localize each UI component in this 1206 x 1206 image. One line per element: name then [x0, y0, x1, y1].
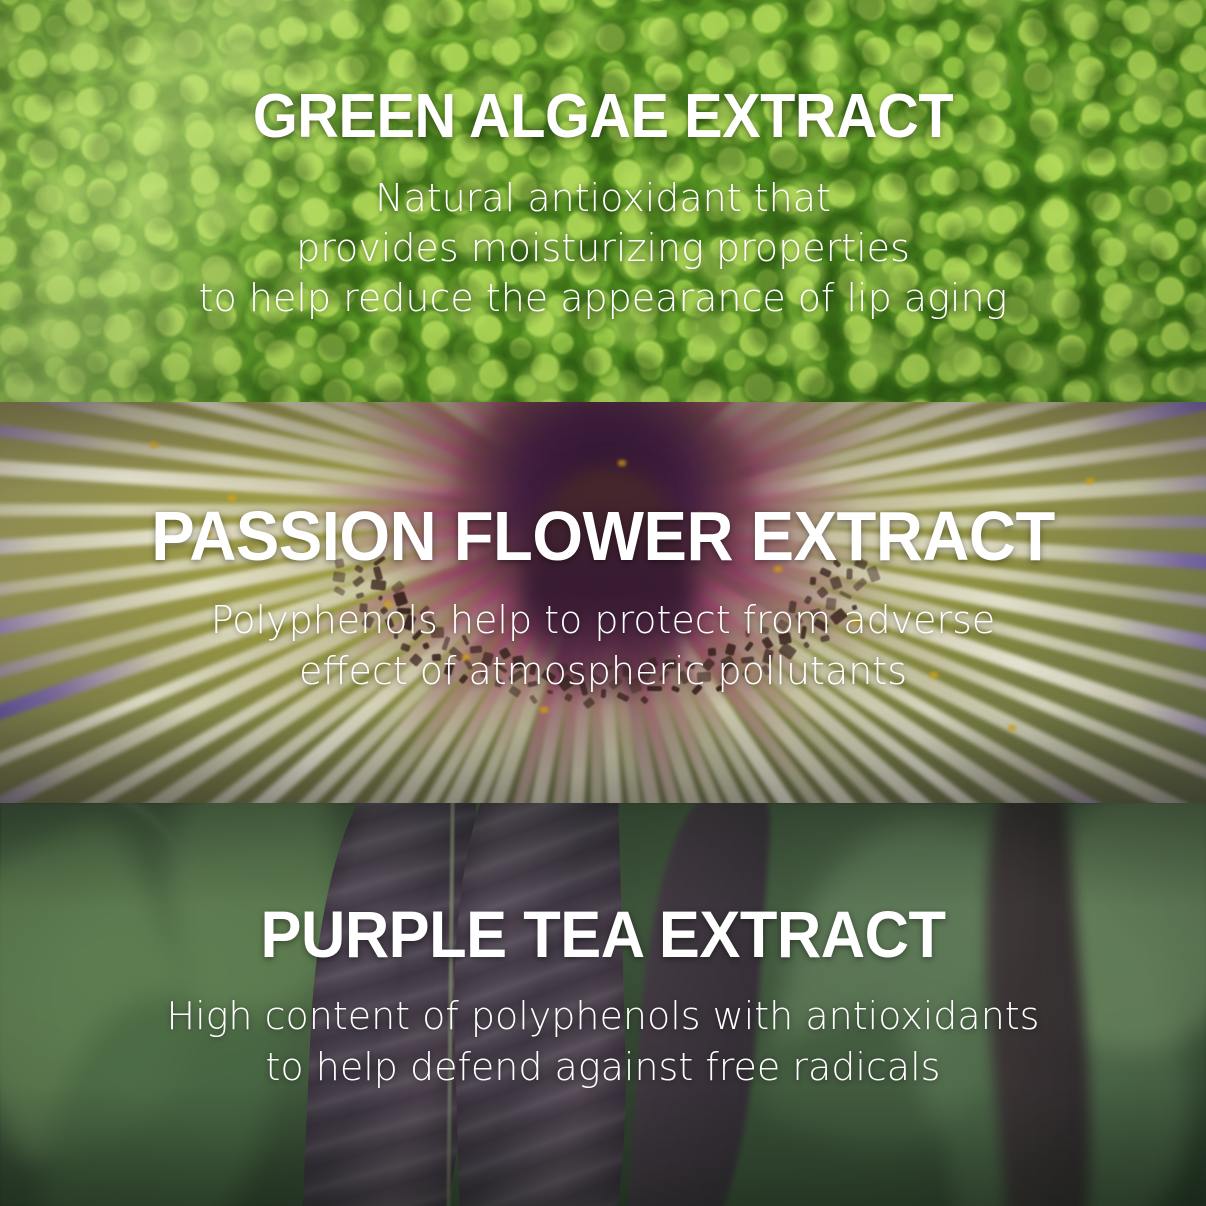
- green-algae-description-line-1: Natural antioxidant that: [0, 174, 1206, 224]
- green-algae-description: Natural antioxidant that provides moistu…: [0, 174, 1206, 323]
- green-algae-heading: GREEN ALGAE EXTRACT: [42, 86, 1164, 148]
- passion-flower-copy-block: PASSION FLOWER EXTRACT Polyphenols help …: [0, 501, 1206, 697]
- green-algae-copy-block: GREEN ALGAE EXTRACT Natural antioxidant …: [0, 86, 1206, 323]
- panel-green-algae: GREEN ALGAE EXTRACT Natural antioxidant …: [0, 0, 1206, 402]
- panel-purple-tea: PURPLE TEA EXTRACT High content of polyp…: [0, 803, 1206, 1206]
- passion-flower-description: Polyphenols help to protect from adverse…: [0, 595, 1206, 697]
- purple-tea-description-line-1: High content of polyphenols with antioxi…: [0, 991, 1206, 1042]
- purple-tea-copy-block: PURPLE TEA EXTRACT High content of polyp…: [0, 901, 1206, 1092]
- ingredient-infographic: GREEN ALGAE EXTRACT Natural antioxidant …: [0, 0, 1206, 1206]
- purple-tea-heading: PURPLE TEA EXTRACT: [42, 901, 1164, 967]
- passion-flower-description-line-1: Polyphenols help to protect from adverse: [0, 595, 1206, 646]
- green-algae-description-line-3: to help reduce the appearance of lip agi…: [0, 274, 1206, 324]
- panel-passion-flower: PASSION FLOWER EXTRACT Polyphenols help …: [0, 402, 1206, 803]
- passion-flower-heading: PASSION FLOWER EXTRACT: [42, 501, 1164, 571]
- green-algae-description-line-2: provides moisturizing properties: [0, 224, 1206, 274]
- purple-tea-description: High content of polyphenols with antioxi…: [0, 991, 1206, 1092]
- purple-tea-description-line-2: to help defend against free radicals: [0, 1042, 1206, 1093]
- passion-flower-description-line-2: effect of atmospheric pollutants: [0, 646, 1206, 697]
